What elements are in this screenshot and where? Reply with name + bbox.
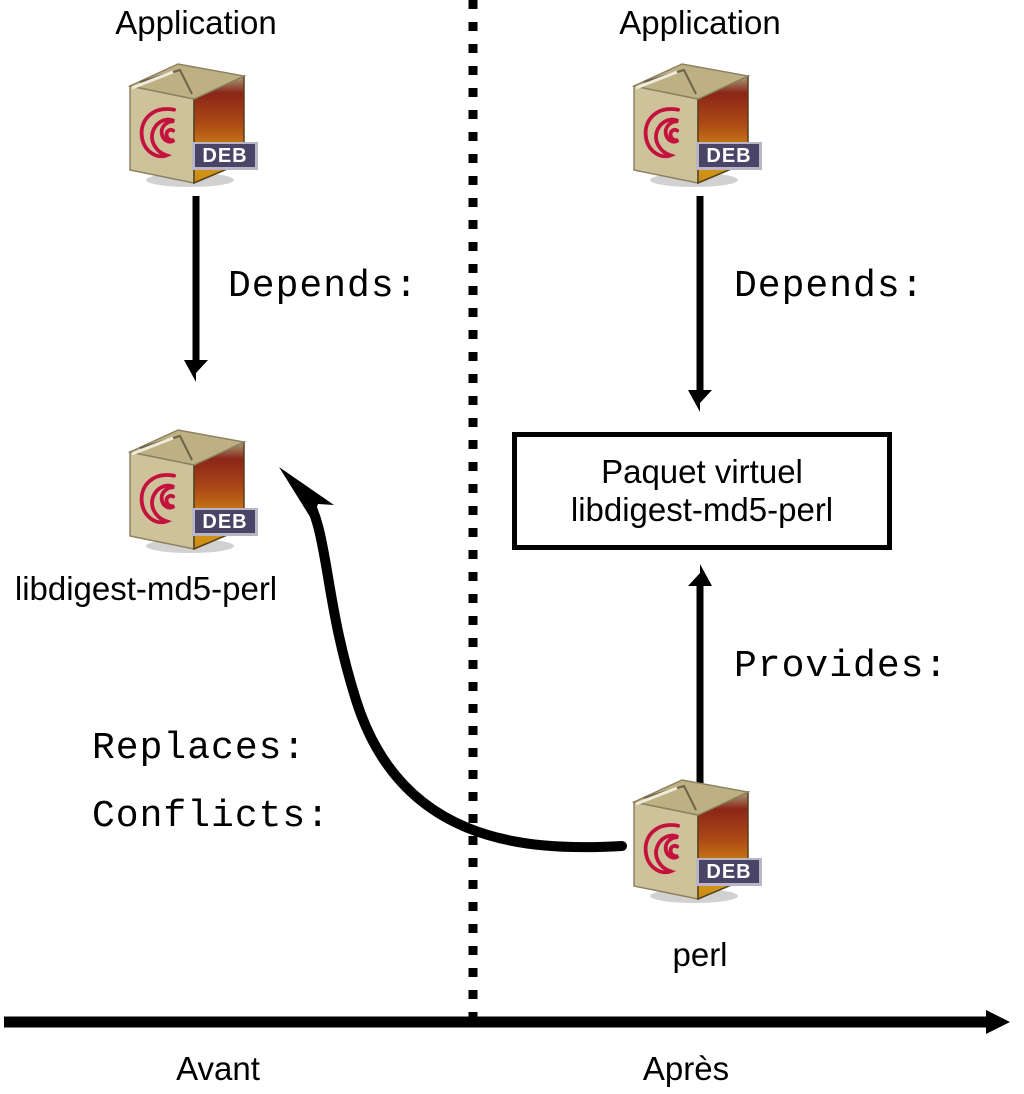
after-package-label: perl [672,938,727,971]
conflicts-label: Conflicts: [92,798,330,836]
deb-package-icon: DEB [622,52,778,194]
deb-badge: DEB [696,858,762,886]
virtual-package-name: libdigest-md5-perl [571,491,833,529]
deb-package-glyph: DEB [622,52,778,194]
svg-text:DEB: DEB [706,145,751,167]
deb-package-glyph: DEB [118,52,274,194]
timeline-label-after: Après [643,1052,729,1085]
after-depends-label: Depends: [734,268,924,306]
virtual-package-box: Paquet virtuel libdigest-md5-perl [512,432,892,550]
deb-badge: DEB [192,508,258,536]
replaces-label: Replaces: [92,730,306,768]
deb-package-icon: DEB [118,418,274,560]
before-depends-label: Depends: [228,268,418,306]
deb-package-icon: DEB [118,52,274,194]
deb-package-glyph: DEB [118,418,274,560]
deb-badge: DEB [192,142,258,170]
deb-badge: DEB [696,142,762,170]
deb-package-glyph: DEB [622,768,778,910]
svg-text:DEB: DEB [202,145,247,167]
after-application-label: Application [619,6,780,39]
before-package-label: libdigest-md5-perl [15,572,277,605]
timeline-label-before: Avant [176,1052,260,1085]
diagram-canvas: Application [0,0,1024,1094]
before-application-label: Application [115,6,276,39]
svg-text:DEB: DEB [706,861,751,883]
deb-package-icon: DEB [622,768,778,910]
svg-text:DEB: DEB [202,511,247,533]
provides-label: Provides: [734,648,948,686]
virtual-package-title: Paquet virtuel [601,453,803,491]
